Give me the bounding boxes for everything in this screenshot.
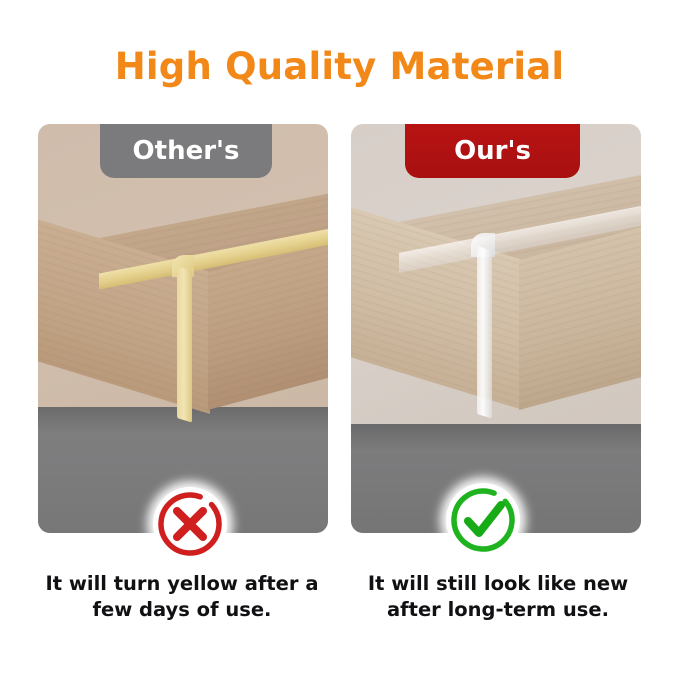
caption-our: It will still look like new after long-t…	[348, 571, 648, 622]
floor-shadow-our	[351, 424, 641, 450]
comparison-panel-our: Our's	[351, 124, 641, 533]
yellowed-edge-guard-face	[177, 266, 192, 423]
x-mark-icon	[153, 487, 227, 561]
page-title: High Quality Material	[0, 48, 679, 85]
check-mark-icon	[446, 483, 520, 557]
caption-other: It will turn yellow after a few days of …	[32, 571, 332, 622]
comparison-panel-other: Other's	[38, 124, 328, 533]
clear-edge-guard-face	[477, 246, 492, 419]
badge-our: Our's	[405, 124, 580, 178]
badge-other: Other's	[100, 124, 272, 178]
